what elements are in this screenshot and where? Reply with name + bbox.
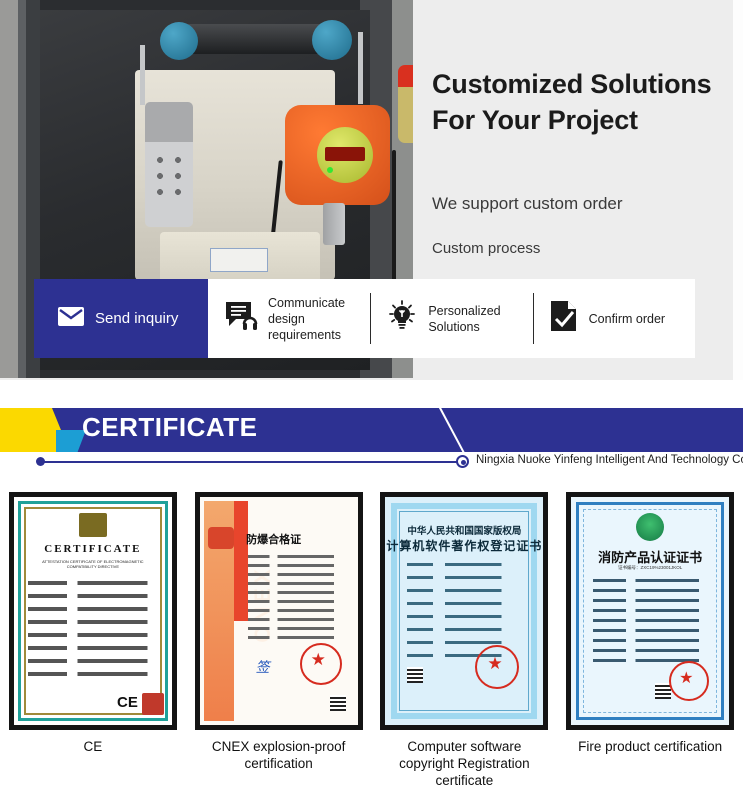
cnex-signature: 签: [256, 657, 270, 677]
send-inquiry-label: Send inquiry: [95, 310, 178, 327]
certificate-item-fire[interactable]: 消防产品认证证书 证书编号：ZXC19%23001JKOL Fire produ…: [557, 492, 743, 803]
certificate-caption-ce: CE: [13, 738, 173, 755]
certificate-item-cnex[interactable]: CNEX 防爆合格证 签 CNEX explosion-proof certif…: [186, 492, 372, 803]
feature-item-confirm[interactable]: Confirm order: [533, 279, 695, 358]
junction-box-label: [210, 248, 268, 272]
fire-cert-fields: [593, 579, 711, 669]
certificate-image-fire: 消防产品认证证书 证书编号：ZXC19%23001JKOL: [571, 497, 729, 725]
banner-dot-left-icon: [36, 457, 45, 466]
chat-headset-icon: [224, 300, 258, 337]
valve-knob-right-icon: [312, 20, 352, 60]
fire-cert-number: 证书编号：ZXC19%23001JKOL: [571, 565, 729, 571]
cnex-cert-fields: [248, 555, 346, 645]
certificate-grid: CERTIFICATE ATTESTATION CERTIFICATE OF E…: [0, 492, 743, 803]
banner-rule: [40, 461, 462, 463]
feature-item-communicate-label: Communicate design requirements: [268, 295, 370, 343]
feature-bar: Send inquiry Communicate design requirem…: [34, 279, 695, 358]
certificate-caption-software: Computer software copyright Registration…: [384, 738, 544, 789]
certificate-frame: 消防产品认证证书 证书编号：ZXC19%23001JKOL: [566, 492, 734, 730]
certificate-frame: CERTIFICATE ATTESTATION CERTIFICATE OF E…: [9, 492, 177, 730]
cnex-red-stamp-icon: [300, 643, 342, 685]
hero-subtitle-secondary: Custom process: [432, 240, 732, 257]
valve-knob-left-icon: [160, 22, 198, 60]
certificate-image-ce: CERTIFICATE ATTESTATION CERTIFICATE OF E…: [14, 497, 172, 725]
hero-right-edge: [733, 0, 743, 380]
lightbulb-icon: [386, 300, 418, 337]
pipe-right: [358, 32, 363, 104]
company-name: Ningxia Nuoke Yinfeng Intelligent And Te…: [476, 454, 743, 466]
cnex-red-bar: [234, 501, 248, 621]
gas-detector-head: [285, 105, 390, 205]
ce-cert-subtitle: ATTESTATION CERTIFICATE OF ELECTROMAGNET…: [32, 559, 154, 569]
envelope-icon: [58, 307, 84, 331]
certificate-caption-cnex: CNEX explosion-proof certification: [199, 738, 359, 772]
fire-cert-logo-icon: [636, 513, 664, 541]
ce-cert-fields: [28, 581, 158, 685]
banner-dot-right-icon: [456, 455, 469, 468]
certificate-image-cnex: CNEX 防爆合格证 签: [200, 497, 358, 725]
cable-two: [392, 150, 396, 290]
hero-title: Customized Solutions For Your Project: [432, 66, 727, 138]
alarm-beacon: [398, 65, 413, 143]
software-qr-code-icon: [407, 667, 423, 683]
detector-stem: [323, 203, 345, 245]
detector-display: [325, 147, 365, 161]
fire-cert-title: 消防产品认证证书: [571, 547, 729, 566]
feature-item-communicate[interactable]: Communicate design requirements: [208, 279, 370, 358]
feature-item-personalized[interactable]: Personalized Solutions: [370, 279, 532, 358]
software-cert-title-line2: 计算机软件著作权登记证书: [385, 537, 543, 554]
ce-seal-icon: [142, 693, 164, 715]
feature-item-confirm-label: Confirm order: [589, 311, 665, 327]
feature-item-personalized-label: Personalized Solutions: [428, 303, 532, 335]
certificate-frame: 中华人民共和国国家版权局 计算机软件著作权登记证书: [380, 492, 548, 730]
certificate-banner-title: CERTIFICATE: [82, 412, 257, 443]
certificate-item-ce[interactable]: CERTIFICATE ATTESTATION CERTIFICATE OF E…: [0, 492, 186, 803]
hero-section: Customized Solutions For Your Project We…: [0, 0, 743, 380]
detector-face: [317, 127, 373, 183]
certificate-item-software[interactable]: 中华人民共和国国家版权局 计算机软件著作权登记证书 Computer softw…: [372, 492, 558, 803]
cnex-cert-title: 防爆合格证: [200, 531, 348, 547]
send-inquiry-button[interactable]: Send inquiry: [34, 279, 208, 358]
air-filter-unit: [145, 102, 193, 227]
detector-led-icon: [327, 167, 333, 173]
pipe-left: [140, 45, 145, 105]
ce-mark: CE: [117, 694, 138, 711]
hero-subtitle: We support custom order: [432, 194, 732, 214]
udem-logo-icon: [79, 513, 107, 537]
certificate-caption-fire: Fire product certification: [570, 738, 730, 755]
fire-red-stamp-icon: [669, 661, 709, 701]
certificate-image-software: 中华人民共和国国家版权局 计算机软件著作权登记证书: [385, 497, 543, 725]
software-cert-title-line1: 中华人民共和国国家版权局: [385, 523, 543, 537]
document-check-icon: [549, 299, 579, 338]
certificate-frame: CNEX 防爆合格证 签: [195, 492, 363, 730]
cnex-qr-code-icon: [330, 695, 346, 711]
ce-cert-title: CERTIFICATE: [14, 543, 172, 555]
product-detail-page: Customized Solutions For Your Project We…: [0, 0, 743, 803]
